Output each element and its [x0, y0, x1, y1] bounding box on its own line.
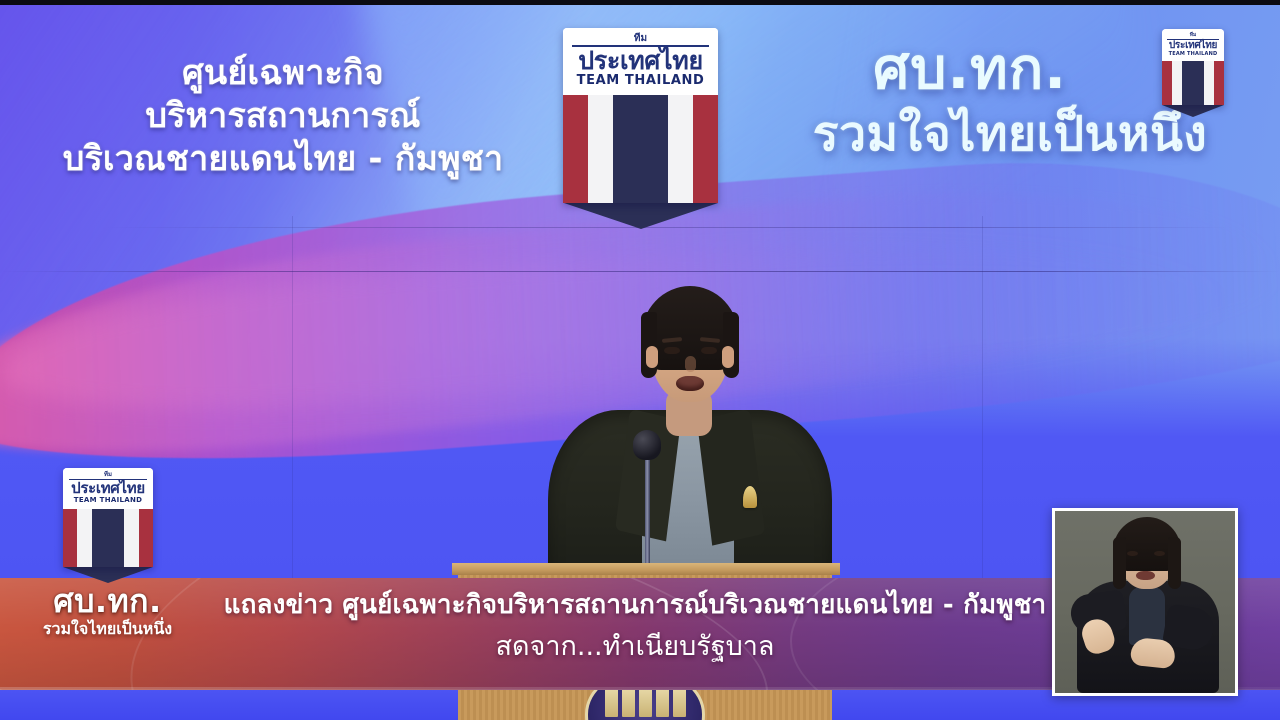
shield-thai-label-wm: ประเทศไทย — [69, 481, 147, 497]
shield-flag-stripes-tr — [1162, 61, 1224, 105]
speaker-ear-right — [722, 346, 734, 368]
letterbox-top-bar — [0, 0, 1280, 5]
podium-top-edge — [452, 563, 840, 575]
speaker-hair-right — [723, 312, 739, 378]
broadcast-frame: ศูนย์เฉพาะกิจ บริหารสถานการณ์ บริเวณชายแ… — [0, 0, 1280, 720]
interpreter-eye-right — [1154, 551, 1165, 556]
shield-english-label: TEAM THAILAND — [572, 74, 709, 88]
microphone-stem — [645, 455, 650, 573]
speaker-eye-left — [664, 347, 680, 354]
shield-english-label-tr: TEAM THAILAND — [1167, 52, 1219, 57]
caption-headline: แถลงข่าว ศูนย์เฉพาะกิจบริหารสถานการณ์บริ… — [210, 590, 1060, 621]
caption-subline: สดจาก...ทำเนียบรัฐบาล — [210, 631, 1060, 663]
headline-left-line-3: บริเวณชายแดนไทย - กัมพูชา — [18, 138, 548, 181]
speaker-ear-left — [646, 346, 658, 368]
speaker-lapel-pin — [743, 486, 757, 508]
shield-flag-stripes-wm — [63, 509, 153, 567]
shield-point-topright — [1162, 105, 1224, 117]
team-thailand-shield-center: ทีม ประเทศไทย TEAM THAILAND — [563, 28, 718, 229]
shield-english-label-wm: TEAM THAILAND — [69, 497, 147, 504]
shield-small-label-wm: ทีม — [69, 472, 147, 478]
sign-language-video — [1055, 511, 1235, 693]
team-thailand-shield-watermark: ทีม ประเทศไทย TEAM THAILAND — [63, 468, 153, 583]
shield-thai-label: ประเทศไทย — [572, 48, 709, 74]
watermark-acronym: ศบ.ทก. — [10, 585, 205, 617]
interpreter-hair-right — [1168, 537, 1181, 589]
headline-left-line-1: ศูนย์เฉพาะกิจ — [18, 52, 548, 95]
interpreter-eye-left — [1127, 551, 1138, 556]
watermark-text-block: ศบ.ทก. รวมใจไทยเป็นหนึ่ง — [10, 585, 205, 638]
speaker-nose — [685, 356, 696, 372]
backdrop-panel-seam-left — [292, 216, 293, 634]
shield-thai-label-tr: ประเทศไทย — [1167, 41, 1219, 52]
speaker-figure — [540, 272, 840, 572]
sign-language-interpreter-inset — [1052, 508, 1238, 696]
shield-point-center — [564, 203, 718, 229]
microphone-head-icon — [633, 430, 661, 460]
headline-left-block: ศูนย์เฉพาะกิจ บริหารสถานการณ์ บริเวณชายแ… — [18, 52, 548, 182]
speaker-mouth — [676, 376, 704, 391]
shield-small-label-tr: ทีม — [1167, 33, 1219, 38]
caption-text-block: แถลงข่าว ศูนย์เฉพาะกิจบริหารสถานการณ์บริ… — [210, 590, 1060, 664]
interpreter-shirt — [1129, 587, 1165, 645]
interpreter-hair-left — [1113, 537, 1126, 589]
shield-point-watermark — [63, 567, 153, 583]
team-thailand-shield-topright: ทีม ประเทศไทย TEAM THAILAND — [1162, 29, 1224, 117]
backdrop-panel-seam-right — [982, 216, 983, 634]
speaker-hair-left — [641, 312, 657, 378]
watermark-slogan: รวมใจไทยเป็นหนึ่ง — [10, 619, 205, 638]
shield-small-label: ทีม — [572, 34, 709, 44]
speaker-eye-right — [701, 347, 717, 354]
shield-flag-stripes — [563, 95, 718, 203]
interpreter-mouth — [1136, 571, 1155, 580]
headline-left-line-2: บริหารสถานการณ์ — [18, 95, 548, 138]
